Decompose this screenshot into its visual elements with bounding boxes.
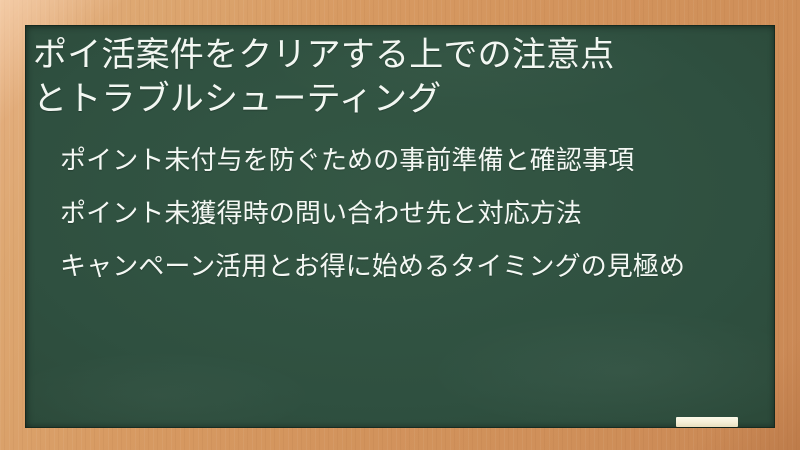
page-title: ポイ活案件をクリアする上での注意点 とトラブルシューティング [33,33,757,121]
topic-list: ポイント未付与を防ぐための事前準備と確認事項 ポイント未獲得時の問い合わせ先と対… [33,139,757,287]
list-item: ポイント未付与を防ぐための事前準備と確認事項 [60,139,747,181]
board-content: ポイ活案件をクリアする上での注意点 とトラブルシューティング ポイント未付与を防… [25,25,775,287]
chalk-stick [676,417,738,427]
chalkboard-surface: ポイ活案件をクリアする上での注意点 とトラブルシューティング ポイント未付与を防… [25,25,775,428]
list-item: ポイント未獲得時の問い合わせ先と対応方法 [60,192,747,234]
list-item: キャンペーン活用とお得に始めるタイミングの見極め [60,245,747,287]
chalkboard-wooden-frame: ポイ活案件をクリアする上での注意点 とトラブルシューティング ポイント未付与を防… [0,0,800,450]
